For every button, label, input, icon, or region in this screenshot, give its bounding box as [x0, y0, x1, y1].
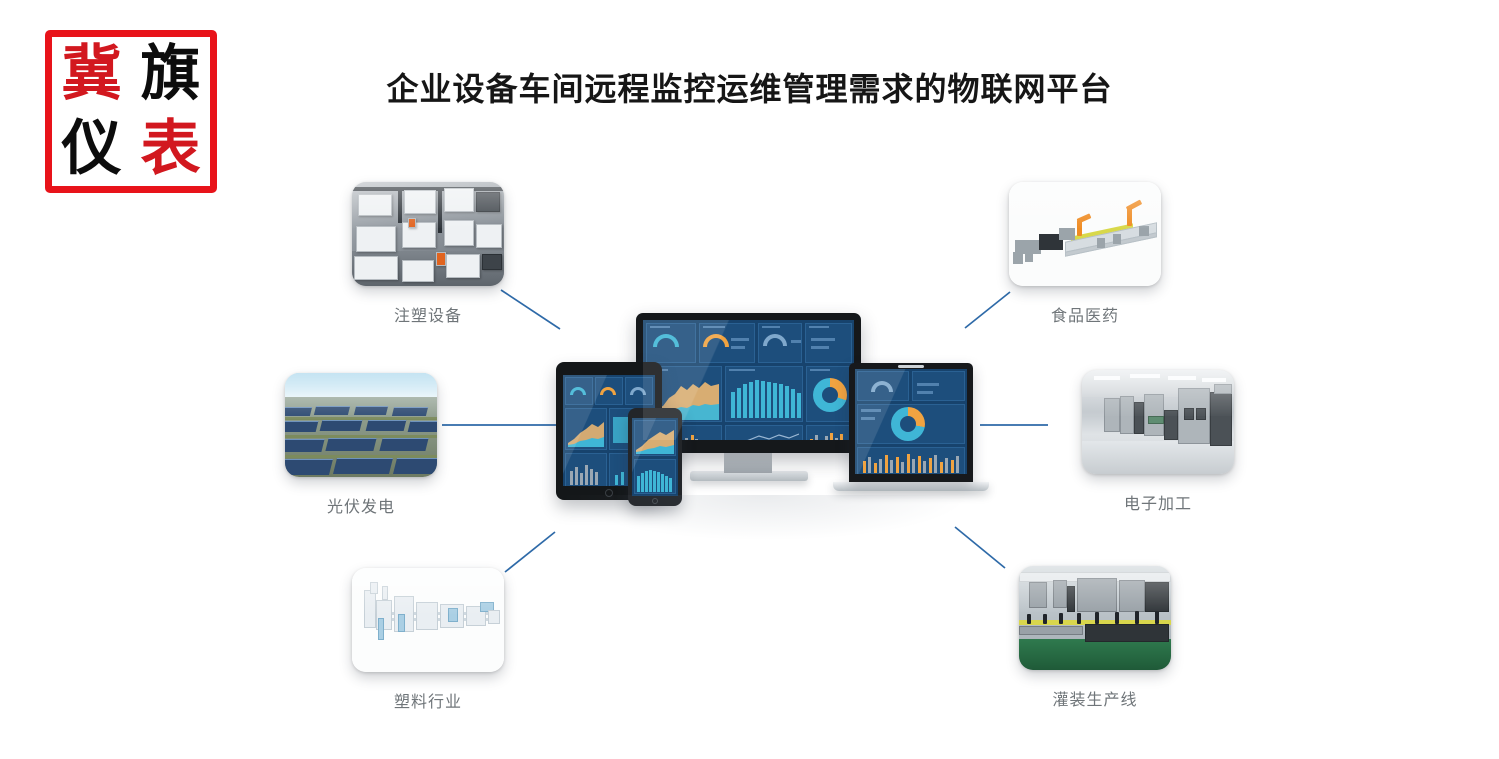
page-title: 企业设备车间远程监控运维管理需求的物联网平台 — [0, 64, 1499, 110]
label-plastics-industry: 塑料行业 — [348, 688, 508, 712]
scene-injection-molding-art — [352, 182, 504, 286]
node-food-pharma[interactable]: 食品医药 — [1005, 182, 1165, 326]
label-electronics: 电子加工 — [1078, 490, 1238, 514]
thumb-photovoltaic[interactable] — [285, 373, 437, 477]
slide-canvas: 冀 旗 仪 表 企业设备车间远程监控运维管理需求的物联网平台 — [0, 0, 1499, 759]
connector-filling-line — [955, 527, 1005, 568]
phone-dashboard[interactable] — [632, 418, 678, 496]
laptop-base — [833, 482, 989, 491]
laptop-dashboard[interactable] — [855, 369, 967, 474]
node-photovoltaic[interactable]: 光伏发电 — [281, 373, 441, 517]
device-cluster — [548, 305, 978, 520]
logo-char-yi: 仪 — [52, 112, 131, 187]
phone-home-button[interactable] — [652, 498, 658, 504]
node-plastics-industry[interactable]: 塑料行业 — [348, 568, 508, 712]
label-food-pharma: 食品医药 — [1005, 302, 1165, 326]
scene-photovoltaic-art — [285, 373, 437, 477]
thumb-filling-line[interactable] — [1019, 566, 1171, 670]
company-logo: 冀 旗 仪 表 — [45, 30, 217, 193]
tablet-home-button[interactable] — [605, 489, 613, 497]
thumb-food-pharma[interactable] — [1009, 182, 1161, 286]
laptop-hinge-notch — [898, 365, 924, 368]
logo-char-biao: 表 — [131, 112, 210, 187]
label-filling-line: 灌装生产线 — [1015, 686, 1175, 710]
thumb-injection-molding[interactable] — [352, 182, 504, 286]
thumb-electronics[interactable] — [1082, 370, 1234, 474]
node-electronics[interactable]: 电子加工 — [1078, 370, 1238, 514]
scene-food-pharma-art — [1009, 182, 1161, 286]
node-filling-line[interactable]: 灌装生产线 — [1015, 566, 1175, 710]
node-injection-molding[interactable]: 注塑设备 — [348, 182, 508, 326]
scene-electronics-art — [1082, 370, 1234, 474]
laptop[interactable] — [849, 363, 973, 482]
label-photovoltaic: 光伏发电 — [281, 493, 441, 517]
monitor-neck — [724, 453, 772, 473]
scene-plastics-art — [352, 568, 504, 672]
connector-plastics — [505, 532, 555, 572]
label-injection-molding: 注塑设备 — [348, 302, 508, 326]
smartphone[interactable] — [628, 408, 682, 506]
scene-filling-line-art — [1019, 566, 1171, 670]
thumb-plastics-industry[interactable] — [352, 568, 504, 672]
